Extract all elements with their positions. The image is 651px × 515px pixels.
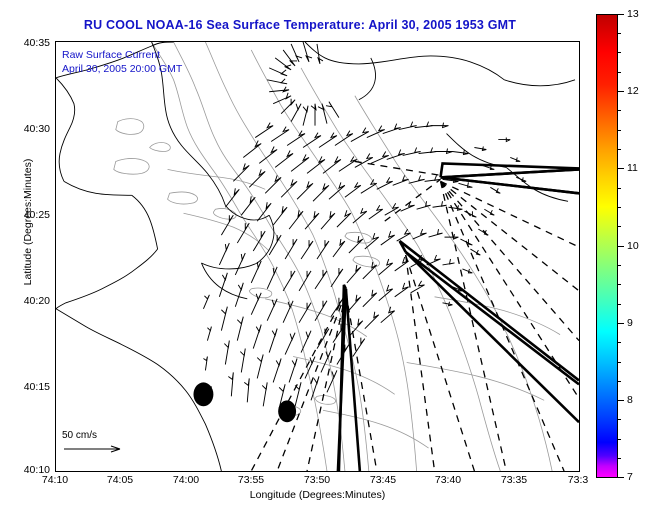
xtick-1: 74:05 (107, 474, 133, 486)
x-axis-label: Longitude (Degrees:Minutes) (55, 489, 580, 501)
figure-canvas: RU COOL NOAA-16 Sea Surface Temperature:… (0, 0, 651, 515)
scale-bar-arrow-icon (62, 443, 132, 455)
map-canvas (56, 42, 579, 471)
bathymetry-contours (114, 42, 560, 471)
colorbar-minor-tick (618, 52, 621, 53)
colorbar-tick-8 (618, 400, 624, 401)
colorbar-label-13: 13 (627, 8, 639, 20)
colorbar-tick-13 (618, 14, 624, 15)
colorbar-label-7: 7 (627, 471, 633, 483)
colorbar-minor-tick (618, 33, 621, 34)
colorbar-tick-9 (618, 323, 624, 324)
xtick-5: 73:45 (370, 474, 396, 486)
colorbar-minor-tick (618, 265, 621, 266)
colorbar-label-10: 10 (627, 240, 639, 252)
xtick-6: 73:40 (435, 474, 461, 486)
colorbar-minor-tick (618, 419, 621, 420)
velocity-scale-bar: 50 cm/s (62, 430, 152, 455)
colorbar-minor-tick (618, 110, 621, 111)
y-axis-label: Latitude (Degrees:Minutes) (22, 102, 34, 342)
scale-bar-label: 50 cm/s (62, 430, 152, 441)
colorbar-label-8: 8 (627, 394, 633, 406)
colorbar-minor-tick (618, 130, 621, 131)
radar-radial-beams (251, 161, 579, 471)
xtick-7: 73:35 (501, 474, 527, 486)
colorbar-label-11: 11 (627, 162, 638, 174)
colorbar-minor-tick (618, 381, 621, 382)
colorbar-minor-tick (618, 458, 621, 459)
colorbar-tick-12 (618, 91, 624, 92)
ytick-5: 40:10 (24, 464, 50, 476)
colorbar-tick-10 (618, 246, 624, 247)
temperature-colorbar[interactable]: 13 12 11 10 9 8 7 (596, 14, 618, 478)
ytick-0: 40:35 (24, 37, 50, 49)
colorbar-minor-tick (618, 362, 621, 363)
colorbar-minor-tick (618, 342, 621, 343)
ytick-4: 40:15 (24, 381, 50, 393)
colorbar-gradient (596, 14, 618, 478)
colorbar-minor-tick (618, 226, 621, 227)
colorbar-minor-tick (618, 284, 621, 285)
xtick-8: 73:3 (568, 474, 588, 486)
chart-title: RU COOL NOAA-16 Sea Surface Temperature:… (0, 18, 600, 32)
colorbar-minor-tick (618, 439, 621, 440)
xtick-4: 73:50 (304, 474, 330, 486)
colorbar-minor-tick (618, 188, 621, 189)
xtick-3: 73:55 (238, 474, 264, 486)
map-plot-area[interactable]: Raw Surface Current April 30, 2005 20:00… (55, 41, 580, 472)
xtick-2: 74:00 (173, 474, 199, 486)
colorbar-tick-11 (618, 168, 624, 169)
colorbar-minor-tick (618, 72, 621, 73)
colorbar-tick-7 (618, 477, 624, 478)
colorbar-label-9: 9 (627, 317, 633, 329)
colorbar-minor-tick (618, 149, 621, 150)
colorbar-minor-tick (618, 304, 621, 305)
colorbar-minor-tick (618, 207, 621, 208)
colorbar-label-12: 12 (627, 85, 639, 97)
